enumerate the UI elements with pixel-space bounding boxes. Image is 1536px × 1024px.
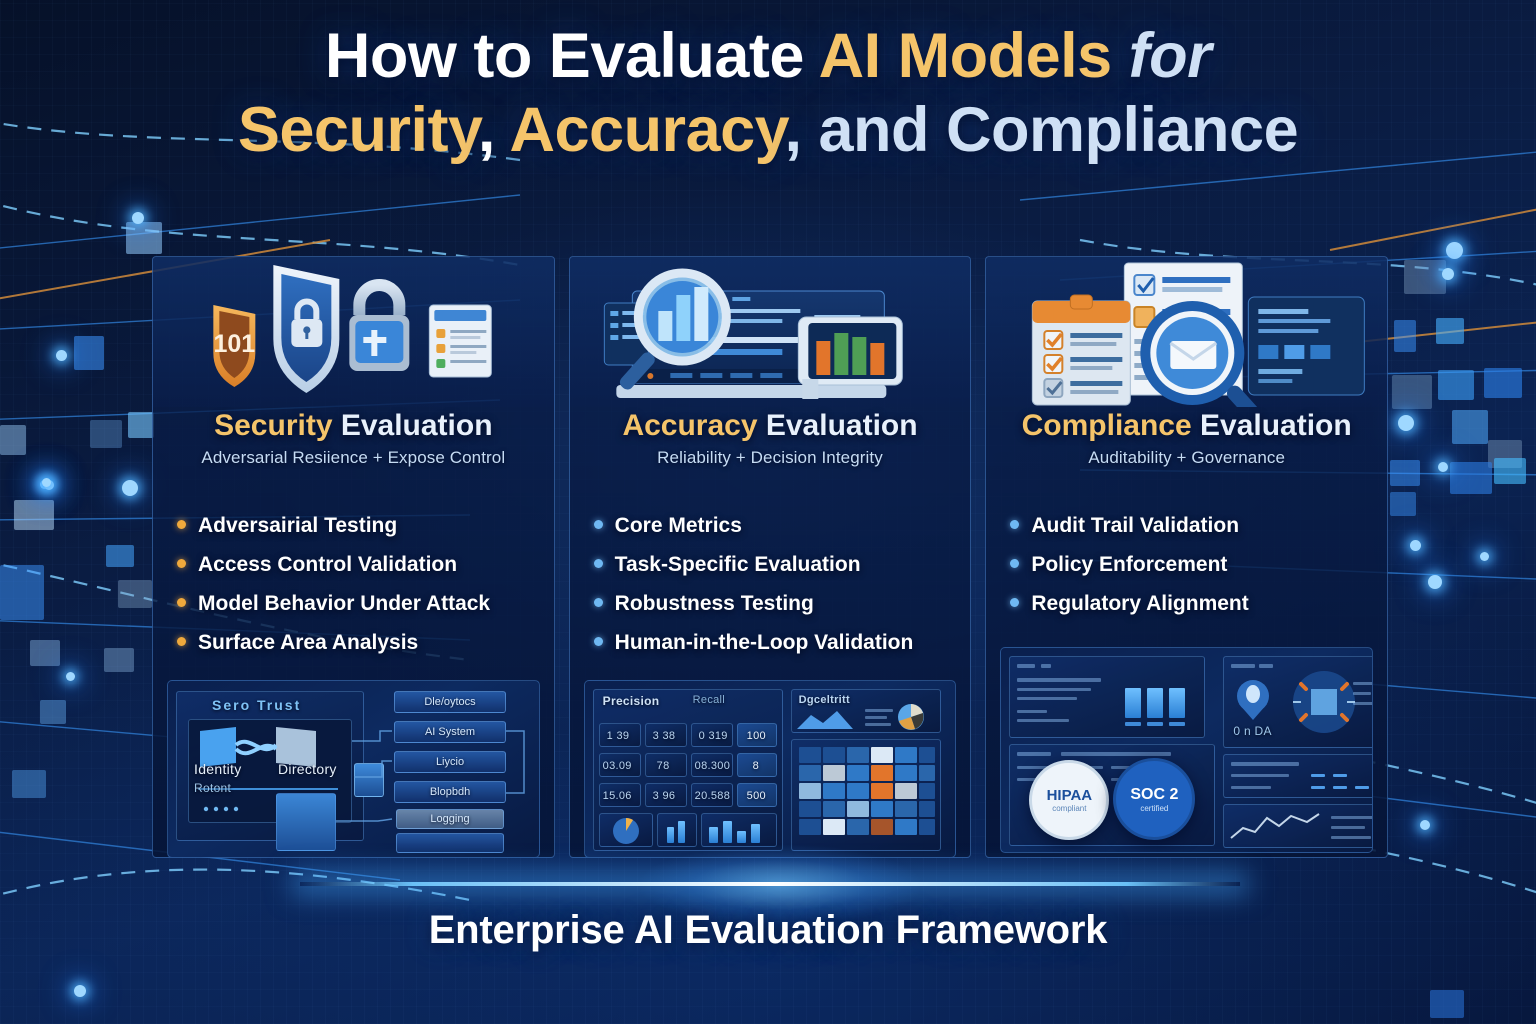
bullet-dot-icon xyxy=(1010,598,1019,607)
badge-number-label: 101 xyxy=(213,330,255,358)
list-item: Policy Enforcement xyxy=(1010,553,1387,577)
security-title-rest: Evaluation xyxy=(333,409,493,442)
accuracy-subtitle: Reliability + Decision Integrity xyxy=(580,448,961,468)
title-part-accuracy: Accuracy xyxy=(510,95,785,165)
metric-header-precision: Precision xyxy=(603,694,660,708)
metric-cell-2-3: 500 xyxy=(747,790,766,802)
footer-divider-glow xyxy=(300,882,1240,886)
metric-cell-1-2: 08.300 xyxy=(695,760,730,772)
security-subtitle: Adversarial Resiience + Expose Control xyxy=(163,448,544,468)
accuracy-illustration xyxy=(570,257,971,407)
accuracy-art-svg xyxy=(570,257,971,407)
list-item: Regulatory Alignment xyxy=(1010,592,1387,616)
gauge-dial-icon xyxy=(1287,668,1361,736)
security-header: Security Evaluation Adversarial Resiienc… xyxy=(153,407,554,480)
metric-cell-2-2: 20.588 xyxy=(695,790,730,802)
compliance-art-svg xyxy=(986,257,1387,407)
security-bullet-3: Surface Area Analysis xyxy=(198,631,418,655)
checklist-document-icon xyxy=(429,305,491,377)
bullet-dot-icon xyxy=(594,598,603,607)
bullet-dot-icon xyxy=(177,637,186,646)
accuracy-title: Accuracy Evaluation xyxy=(580,409,961,442)
accuracy-bullet-list: Core Metrics Task-Specific Evaluation Ro… xyxy=(570,488,971,680)
badge-soc2-label: SOC 2 xyxy=(1130,786,1178,804)
column-security: 101 xyxy=(152,256,555,858)
list-item: Core Metrics xyxy=(594,514,971,538)
metric-cell-0-3: 100 xyxy=(747,730,766,742)
accuracy-bullet-3: Human-in-the-Loop Validation xyxy=(615,631,914,655)
badge-hipaa-sub: compliant xyxy=(1052,804,1086,813)
compliance-illustration xyxy=(986,257,1387,407)
accuracy-header: Accuracy Evaluation Reliability + Decisi… xyxy=(570,407,971,480)
area-chart-icon xyxy=(797,707,859,729)
title-part-ai-models: AI Models xyxy=(819,21,1129,91)
list-item: Task-Specific Evaluation xyxy=(594,553,971,577)
badge-soc2: SOC 2 certified xyxy=(1113,758,1195,840)
infographic-canvas: How to Evaluate AI Models for Security, … xyxy=(0,0,1536,1024)
metric-cell-1-1: 78 xyxy=(657,760,670,772)
pie-chart-icon xyxy=(603,817,649,845)
title-part-security: Security xyxy=(238,95,478,165)
accuracy-bullet-0: Core Metrics xyxy=(615,514,742,538)
metric-cell-0-2: 0 319 xyxy=(699,730,728,742)
security-illustration: 101 xyxy=(153,257,554,407)
compliance-header: Compliance Evaluation Auditability + Gov… xyxy=(986,407,1387,480)
security-zero-trust-diagram: Sero Trust Identity Directory Rotont Dle… xyxy=(167,680,540,858)
badge-101-icon: 101 xyxy=(213,305,255,387)
list-item: Audit Trail Validation xyxy=(1010,514,1387,538)
list-item: Human-in-the-Loop Validation xyxy=(594,631,971,655)
list-item: Access Control Validation xyxy=(177,553,554,577)
compliance-bullet-0: Audit Trail Validation xyxy=(1031,514,1239,538)
list-item: Adversairial Testing xyxy=(177,514,554,538)
metric-header-recall: Recall xyxy=(693,694,725,706)
gauge-value-label: 0 n DA xyxy=(1233,724,1272,738)
compliance-dashboard: HIPAA compliant SOC 2 certified xyxy=(1000,647,1373,853)
badge-soc2-sub: certified xyxy=(1140,804,1168,813)
compliance-bullet-2: Regulatory Alignment xyxy=(1031,592,1248,616)
metric-cell-0-1: 3 38 xyxy=(653,730,676,742)
list-item: Surface Area Analysis xyxy=(177,631,554,655)
title-part-comma: , xyxy=(478,95,510,165)
security-bullet-0: Adversairial Testing xyxy=(198,514,397,538)
bullet-dot-icon xyxy=(594,520,603,529)
padlock-icon xyxy=(349,285,409,371)
title-line-2: Security, Accuracy, and Compliance xyxy=(0,96,1536,164)
security-bullet-1: Access Control Validation xyxy=(198,553,457,577)
title-part-and-compliance: , and Compliance xyxy=(785,95,1299,165)
compliance-title-accent: Compliance xyxy=(1022,409,1192,442)
clipboard-checklist-icon xyxy=(1033,295,1131,405)
compliance-subtitle: Auditability + Governance xyxy=(996,448,1377,468)
list-item: Robustness Testing xyxy=(594,592,971,616)
bullet-dot-icon xyxy=(594,637,603,646)
list-item: Model Behavior Under Attack xyxy=(177,592,554,616)
column-compliance: Compliance Evaluation Auditability + Gov… xyxy=(985,256,1388,858)
metric-cell-2-0: 15.06 xyxy=(603,790,632,802)
donut-chart-icon xyxy=(897,703,925,731)
accuracy-title-rest: Evaluation xyxy=(758,409,918,442)
accuracy-bullet-1: Task-Specific Evaluation xyxy=(615,553,861,577)
metric-cell-1-3: 8 xyxy=(753,760,759,772)
data-card-icon xyxy=(1249,297,1365,395)
bullet-dot-icon xyxy=(177,598,186,607)
bullet-dot-icon xyxy=(594,559,603,568)
accuracy-metrics-dashboard: Precision Recall 1 39 3 38 0 319 100 03.… xyxy=(584,680,957,858)
metric-cell-1-0: 03.09 xyxy=(603,760,632,772)
security-title-accent: Security xyxy=(214,409,332,442)
title-part-how-to-evaluate: How to Evaluate xyxy=(325,21,819,91)
location-pin-icon xyxy=(1229,676,1277,720)
trend-line-chart xyxy=(1229,810,1321,844)
column-accuracy: Accuracy Evaluation Reliability + Decisi… xyxy=(569,256,972,858)
compliance-bullet-list: Audit Trail Validation Policy Enforcemen… xyxy=(986,488,1387,641)
accuracy-title-accent: Accuracy xyxy=(622,409,757,442)
bullet-dot-icon xyxy=(177,520,186,529)
shield-lock-icon xyxy=(273,265,339,393)
badge-hipaa: HIPAA compliant xyxy=(1029,760,1109,840)
compliance-title: Compliance Evaluation xyxy=(996,409,1377,442)
footer-title: Enterprise AI Evaluation Framework xyxy=(0,908,1536,953)
evaluation-columns: 101 xyxy=(152,256,1388,858)
security-title: Security Evaluation xyxy=(163,409,544,442)
bullet-dot-icon xyxy=(177,559,186,568)
badge-hipaa-label: HIPAA xyxy=(1047,787,1093,804)
security-art-svg: 101 xyxy=(153,257,554,407)
security-bullet-list: Adversairial Testing Access Control Vali… xyxy=(153,488,554,680)
page-header: How to Evaluate AI Models for Security, … xyxy=(0,22,1536,164)
bullet-dot-icon xyxy=(1010,520,1019,529)
accuracy-bullet-2: Robustness Testing xyxy=(615,592,814,616)
title-line-1: How to Evaluate AI Models for xyxy=(0,22,1536,90)
heatmap-title: Dgceltritt xyxy=(799,694,850,706)
compliance-title-rest: Evaluation xyxy=(1192,409,1352,442)
metric-cell-2-1: 3 96 xyxy=(653,790,676,802)
bullet-dot-icon xyxy=(1010,559,1019,568)
security-bullet-2: Model Behavior Under Attack xyxy=(198,592,490,616)
security-diagram-connectors xyxy=(168,681,540,858)
metric-cell-0-0: 1 39 xyxy=(607,730,630,742)
title-part-for: for xyxy=(1129,21,1211,91)
compliance-bullet-1: Policy Enforcement xyxy=(1031,553,1227,577)
